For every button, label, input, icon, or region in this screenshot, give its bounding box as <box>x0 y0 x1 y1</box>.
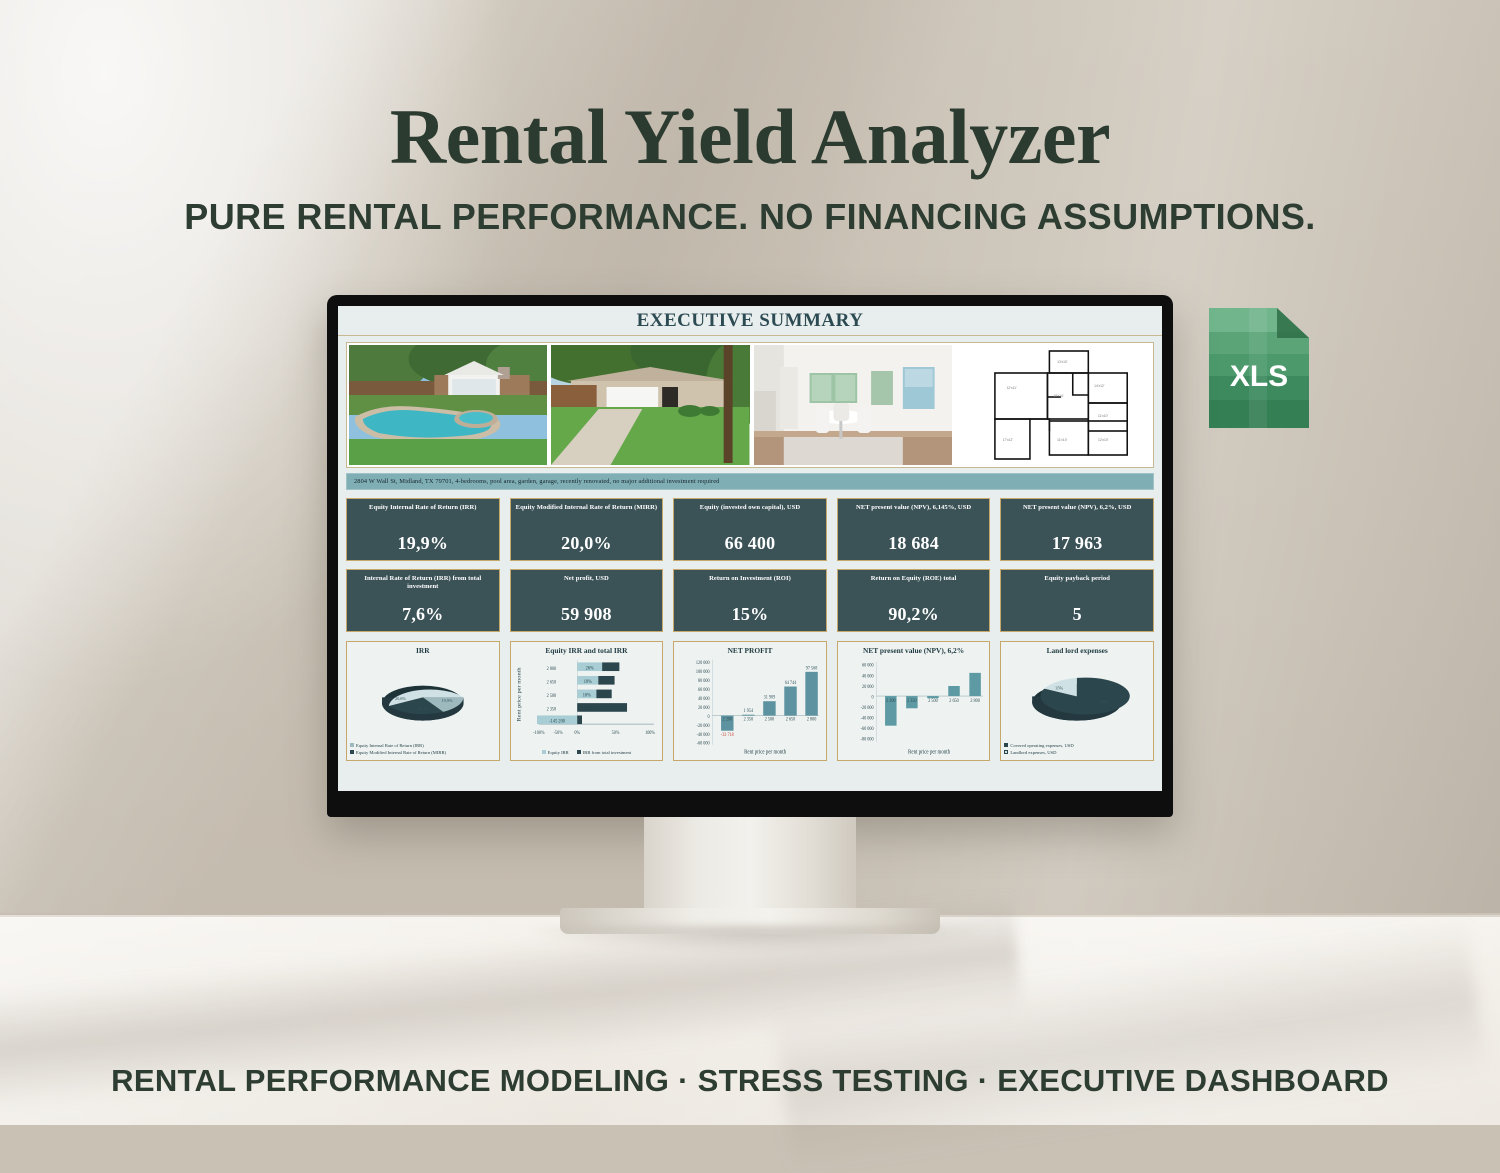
pie-svg: 19,9% 20,0% 20,6% <box>350 655 496 742</box>
bar-label: -145 200 <box>549 718 565 725</box>
y-tick: 60 000 <box>698 687 710 692</box>
kpi-row-secondary: Internal Rate of Return (IRR) from total… <box>346 569 1154 632</box>
cat-label: 2 500 <box>546 694 556 700</box>
x-tick: 2 200 <box>886 699 896 704</box>
kpi-npv-6145[interactable]: NET present value (NPV), 6,145%, USD 18 … <box>837 498 991 561</box>
kpi-value: 17 963 <box>1052 533 1103 554</box>
kpi-value: 66 400 <box>725 533 776 554</box>
bar-label: 26% <box>585 665 594 672</box>
svg-text:12'x10': 12'x10' <box>1098 438 1109 442</box>
bar-svg: 120 000 100 000 80 000 60 000 40 000 20 … <box>677 655 823 756</box>
x-axis-label: Rent price per month <box>744 749 786 755</box>
y-tick: 80 000 <box>698 678 710 683</box>
x-tick: 2 650 <box>786 716 796 721</box>
chart-title: NET PROFIT <box>677 646 823 655</box>
chart-row: IRR 19,9% 20,0% 20,6% <box>346 641 1154 761</box>
bar-svg: Rent price per month 2 800 2 650 2 500 2… <box>514 655 660 749</box>
kpi-roi[interactable]: Return on Investment (ROI) 15% <box>673 569 827 632</box>
chart-plot-area: 120 000 100 000 80 000 60 000 40 000 20 … <box>677 655 823 756</box>
legend-swatch-icon <box>350 743 354 747</box>
cat-label: 2 650 <box>546 680 556 686</box>
bar-label: 19% <box>583 678 592 685</box>
monitor-stand-shadow <box>520 926 990 952</box>
kpi-value: 15% <box>732 604 769 625</box>
bar-value: 1 954 <box>744 708 754 713</box>
dining-room-photo[interactable] <box>754 345 952 465</box>
x-tick: -100% <box>533 731 544 737</box>
kpi-label: Internal Rate of Return (IRR) from total… <box>351 575 495 592</box>
svg-text:12'x11': 12'x11' <box>1007 386 1017 390</box>
chart-legend: Equity IRR IRR from total investment <box>514 749 660 756</box>
legend-label: Equity IRR <box>548 750 569 756</box>
kpi-payback-period[interactable]: Equity payback period 5 <box>1000 569 1154 632</box>
kpi-value: 20,0% <box>561 533 612 554</box>
kpi-equity-capital[interactable]: Equity (invested own capital), USD 66 40… <box>673 498 827 561</box>
legend-entry[interactable]: Equity Internal Rate of Return (IRR) <box>350 743 496 749</box>
y-tick: 120 000 <box>696 660 710 665</box>
sheet-title: EXECUTIVE SUMMARY <box>637 310 864 332</box>
kpi-npv-62[interactable]: NET present value (NPV), 6,2%, USD 17 96… <box>1000 498 1154 561</box>
kpi-value: 90,2% <box>888 604 939 625</box>
x-tick: 2 650 <box>949 699 959 704</box>
bar-value: 97 568 <box>806 665 818 670</box>
x-tick: 2 500 <box>928 699 938 704</box>
svg-text:13'x10': 13'x10' <box>1058 360 1069 364</box>
legend-swatch-icon <box>577 750 581 754</box>
y-tick: 40 000 <box>698 696 710 701</box>
chart-title: NET present value (NPV), 6,2% <box>841 646 987 655</box>
legend-entry[interactable]: Equity IRR <box>542 750 569 756</box>
legend-label: Landlord expenses, USD <box>1010 750 1056 756</box>
kpi-label: Equity Internal Rate of Return (IRR) <box>369 504 476 512</box>
kpi-label: Equity payback period <box>1044 575 1110 583</box>
y-tick: -40 000 <box>697 732 711 737</box>
x-tick: 2 800 <box>970 699 980 704</box>
x-tick: 0% <box>574 731 580 737</box>
legend-swatch-icon <box>542 750 546 754</box>
bar-svg: 60 000 40 000 20 000 0 -20 000 -40 000 -… <box>841 655 987 756</box>
chart-legend: Equity Internal Rate of Return (IRR) Equ… <box>350 742 496 756</box>
monitor-screen: EXECUTIVE SUMMARY <box>338 306 1162 791</box>
legend-label: IRR from total investment <box>583 750 631 756</box>
y-tick: 0 <box>708 714 711 719</box>
xls-badge-label: XLS <box>1230 360 1288 393</box>
legend-label: Equity Modified Internal Rate of Return … <box>356 750 446 756</box>
y-tick: -80 000 <box>860 737 874 742</box>
x-tick: -50% <box>553 731 562 737</box>
chart-title: Equity IRR and total IRR <box>514 646 660 655</box>
kpi-value: 5 <box>1073 604 1082 625</box>
property-description-bar: 2804 W Wall St, Midland, TX 79701, 4-bed… <box>346 473 1154 490</box>
legend-entry[interactable]: Equity Modified Internal Rate of Return … <box>350 750 496 756</box>
y-tick: 20 000 <box>698 705 710 710</box>
kpi-total-irr[interactable]: Internal Rate of Return (IRR) from total… <box>346 569 500 632</box>
kpi-equity-irr[interactable]: Equity Internal Rate of Return (IRR) 19,… <box>346 498 500 561</box>
bar-label: 10% <box>582 692 591 699</box>
svg-text:11'x10': 11'x10' <box>1098 414 1108 418</box>
front-exterior-photo[interactable] <box>551 345 749 465</box>
x-tick: 100% <box>645 731 655 737</box>
legend-entry[interactable]: IRR from total investment <box>577 750 631 756</box>
monitor-frame: EXECUTIVE SUMMARY <box>327 295 1173 817</box>
kpi-label: Net profit, USD <box>564 575 609 583</box>
chart-landlord-expenses[interactable]: Land lord expenses 35% 65% <box>1000 641 1154 761</box>
floor-plan-image[interactable]: 13'x10' 12'x11' 18'x14' 14'x12' 11'x10' … <box>956 345 1151 465</box>
pie-svg: 35% 65% <box>1004 655 1150 742</box>
chart-net-profit[interactable]: NET PROFIT 120 000 100 000 80 000 60 000… <box>673 641 827 761</box>
chart-legend: Covered operating expenses, USD Landlord… <box>1004 742 1150 756</box>
y-tick: -60 000 <box>860 727 874 732</box>
y-tick: 40 000 <box>862 674 874 679</box>
cat-label: 2 800 <box>546 666 556 672</box>
x-tick: 2 800 <box>807 716 817 721</box>
bar-value: 64 744 <box>785 680 797 685</box>
page-title: Rental Yield Analyzer <box>0 96 1500 178</box>
page-footer-tagline: RENTAL PERFORMANCE MODELING · STRESS TES… <box>0 1063 1500 1099</box>
chart-title: Land lord expenses <box>1004 646 1150 655</box>
kpi-value: 19,9% <box>398 533 449 554</box>
chart-title: IRR <box>350 646 496 655</box>
x-tick: 2 500 <box>765 716 775 721</box>
y-tick: -40 000 <box>860 716 874 721</box>
backyard-pool-photo[interactable] <box>349 345 547 465</box>
x-tick: 2 350 <box>907 699 917 704</box>
x-tick: 2 350 <box>744 716 754 721</box>
kpi-roe[interactable]: Return on Equity (ROE) total 90,2% <box>837 569 991 632</box>
y-tick: -20 000 <box>697 723 711 728</box>
pie-label-1: 35% <box>1056 686 1064 691</box>
cat-label: 2 350 <box>546 707 556 713</box>
chart-plot-area: 60 000 40 000 20 000 0 -20 000 -40 000 -… <box>841 655 987 756</box>
xls-file-icon: XLS <box>1205 302 1313 434</box>
kpi-value: 18 684 <box>888 533 939 554</box>
kpi-equity-mirr[interactable]: Equity Modified Internal Rate of Return … <box>510 498 664 561</box>
kpi-net-profit[interactable]: Net profit, USD 59 908 <box>510 569 664 632</box>
kpi-label: Return on Investment (ROI) <box>709 575 791 583</box>
x-tick: 2 200 <box>723 716 733 721</box>
legend-swatch-icon <box>1004 743 1008 747</box>
kpi-label: Equity (invested own capital), USD <box>700 504 800 512</box>
y-tick: 100 000 <box>696 669 710 674</box>
svg-text:17'x12': 17'x12' <box>1003 438 1014 442</box>
headline-block: Rental Yield Analyzer PURE RENTAL PERFOR… <box>0 96 1500 238</box>
x-tick: 50% <box>611 731 619 737</box>
legend-label: Covered operating expenses, USD <box>1010 743 1073 749</box>
page-subtitle: PURE RENTAL PERFORMANCE. NO FINANCING AS… <box>0 196 1500 238</box>
kpi-value: 59 908 <box>561 604 612 625</box>
bar-value: 31 909 <box>764 694 776 699</box>
y-tick: 0 <box>871 695 874 700</box>
chart-plot-area: Rent price per month 2 800 2 650 2 500 2… <box>514 655 660 749</box>
y-tick: 60 000 <box>862 663 874 668</box>
bar-label: 2 3600 <box>581 706 594 713</box>
legend-label: Equity Internal Rate of Return (IRR) <box>356 743 424 749</box>
kpi-label: NET present value (NPV), 6,145%, USD <box>856 504 971 512</box>
legend-entry[interactable]: Landlord expenses, USD <box>1004 750 1150 756</box>
y-tick: -60 000 <box>697 740 711 745</box>
x-axis-label: Rent price per month <box>908 749 950 756</box>
y-axis-label: Rent price per month <box>517 667 522 721</box>
pie-label-2: 65% <box>1101 699 1109 704</box>
bar-value: -33 718 <box>721 732 735 737</box>
property-photo-strip: 13'x10' 12'x11' 18'x14' 14'x12' 11'x10' … <box>346 342 1154 468</box>
legend-swatch-icon <box>1004 750 1008 754</box>
kpi-label: Equity Modified Internal Rate of Return … <box>516 504 658 512</box>
legend-swatch-icon <box>350 750 354 754</box>
chart-npv[interactable]: NET present value (NPV), 6,2% 60 000 40 … <box>837 641 991 761</box>
kpi-value: 7,6% <box>402 604 443 625</box>
monitor-stand-neck <box>644 817 856 915</box>
kpi-label: Return on Equity (ROE) total <box>871 575 957 583</box>
kpi-row-primary: Equity Internal Rate of Return (IRR) 19,… <box>346 498 1154 561</box>
kpi-label: NET present value (NPV), 6,2%, USD <box>1023 504 1131 512</box>
chart-equity-irr-bar[interactable]: Equity IRR and total IRR Rent price per … <box>510 641 664 761</box>
chart-plot-area: 19,9% 20,0% 20,6% <box>350 655 496 742</box>
svg-text:18'x14': 18'x14' <box>1054 394 1065 398</box>
svg-text:14'x12': 14'x12' <box>1095 384 1106 388</box>
svg-text:11'x10': 11'x10' <box>1058 438 1068 442</box>
y-tick: -20 000 <box>860 706 874 711</box>
chart-plot-area: 35% 65% <box>1004 655 1150 742</box>
legend-entry[interactable]: Covered operating expenses, USD <box>1004 743 1150 749</box>
sheet-header: EXECUTIVE SUMMARY <box>338 306 1162 336</box>
chart-irr-pie[interactable]: IRR 19,9% 20,0% 20,6% <box>346 641 500 761</box>
y-tick: 20 000 <box>862 685 874 690</box>
